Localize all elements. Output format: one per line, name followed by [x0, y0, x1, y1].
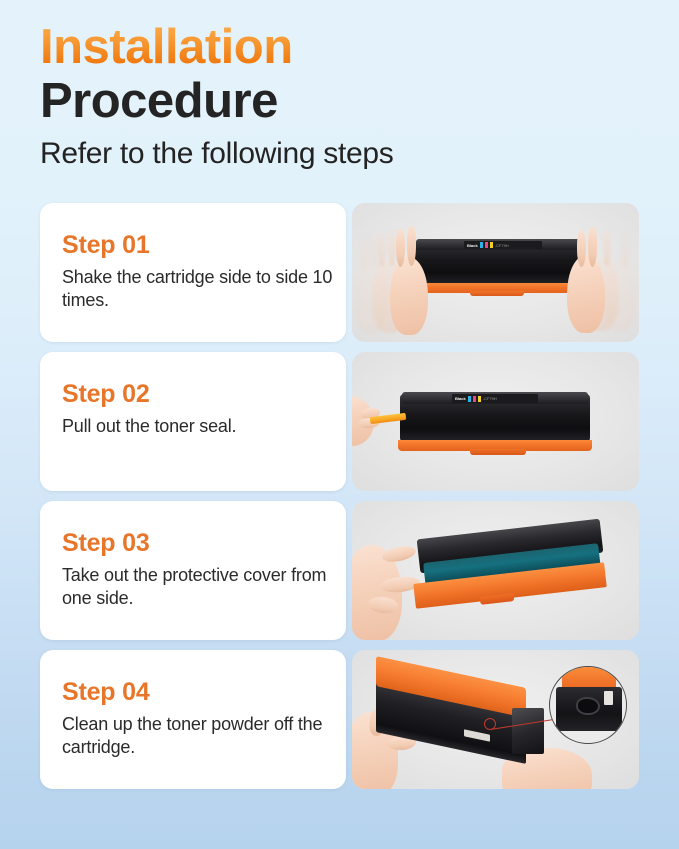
swatch-magenta	[473, 396, 476, 402]
finger-ghost-right	[603, 230, 611, 266]
shake-cartridge-illustration: Black -CF79H	[352, 203, 639, 342]
callout-toner-part	[576, 697, 600, 715]
title-procedure: Procedure	[40, 75, 679, 128]
step-image-03	[352, 501, 639, 640]
cartridge-orange-lip	[470, 291, 524, 296]
swatch-cyan	[480, 242, 483, 248]
cartridge-end-cap	[512, 708, 544, 754]
step-card-03: Step 03 Take out the protective cover fr…	[40, 501, 639, 640]
page-subtitle: Refer to the following steps	[40, 136, 679, 172]
finger-right-2	[577, 231, 586, 267]
step-card-02: Step 02 Pull out the toner seal. Black -…	[40, 352, 639, 491]
step-title: Step 04	[62, 680, 346, 705]
step-description: Shake the cartridge side to side 10 time…	[62, 266, 334, 312]
swatch-yellow	[478, 396, 481, 402]
cartridge-label: Black -CF79H	[452, 394, 538, 403]
cartridge-label-brand: Black	[467, 243, 478, 248]
step-text-panel: Step 04 Clean up the toner powder off th…	[40, 650, 346, 789]
finger-left-2	[407, 226, 416, 266]
cartridge-orange-lip	[470, 449, 526, 455]
step-card-04: Step 04 Clean up the toner powder off th…	[40, 650, 639, 789]
finger-ghost-left-far	[360, 237, 368, 269]
step-description: Clean up the toner powder off the cartri…	[62, 713, 334, 759]
finger-index	[381, 544, 417, 565]
step-title: Step 01	[62, 233, 346, 258]
step-text-panel: Step 02 Pull out the toner seal.	[40, 352, 346, 491]
steps-list: Step 01 Shake the cartridge side to side…	[40, 203, 639, 799]
cartridge-label-model: -CF79H	[483, 396, 497, 401]
cartridge-label-brand: Black	[455, 396, 466, 401]
step-title: Step 03	[62, 531, 346, 556]
remove-cover-illustration	[352, 501, 639, 640]
swatch-magenta	[485, 242, 488, 248]
title-installation: Installation	[40, 22, 293, 73]
step-card-01: Step 01 Shake the cartridge side to side…	[40, 203, 639, 342]
step-image-04	[352, 650, 639, 789]
finger-ghost-right-far	[621, 233, 629, 267]
swatch-cyan	[468, 396, 471, 402]
finger-ghost-left-2	[388, 230, 396, 266]
clean-toner-illustration	[352, 650, 639, 789]
callout-white-detail	[604, 691, 613, 705]
hand-left	[390, 257, 428, 335]
finger-right-1	[588, 227, 597, 267]
hand-right	[567, 255, 605, 333]
step-text-panel: Step 01 Shake the cartridge side to side…	[40, 203, 346, 342]
swatch-yellow	[490, 242, 493, 248]
step-description: Take out the protective cover from one s…	[62, 564, 334, 610]
pull-seal-illustration: Black -CF79H	[352, 352, 639, 491]
finger-ghost-left-far-2	[370, 233, 378, 267]
cartridge-label: Black -CF79H	[464, 241, 542, 249]
step-image-01: Black -CF79H	[352, 203, 639, 342]
finger-left-1	[396, 229, 405, 267]
page-header: Installation Procedure Refer to the foll…	[0, 0, 679, 172]
step-title: Step 02	[62, 382, 346, 407]
cartridge-label-model: -CF79H	[495, 243, 509, 248]
step-description: Pull out the toner seal.	[62, 415, 334, 438]
step-text-panel: Step 03 Take out the protective cover fr…	[40, 501, 346, 640]
step-image-02: Black -CF79H	[352, 352, 639, 491]
finger-ghost-left	[378, 233, 386, 267]
magnified-detail-callout	[549, 666, 627, 744]
